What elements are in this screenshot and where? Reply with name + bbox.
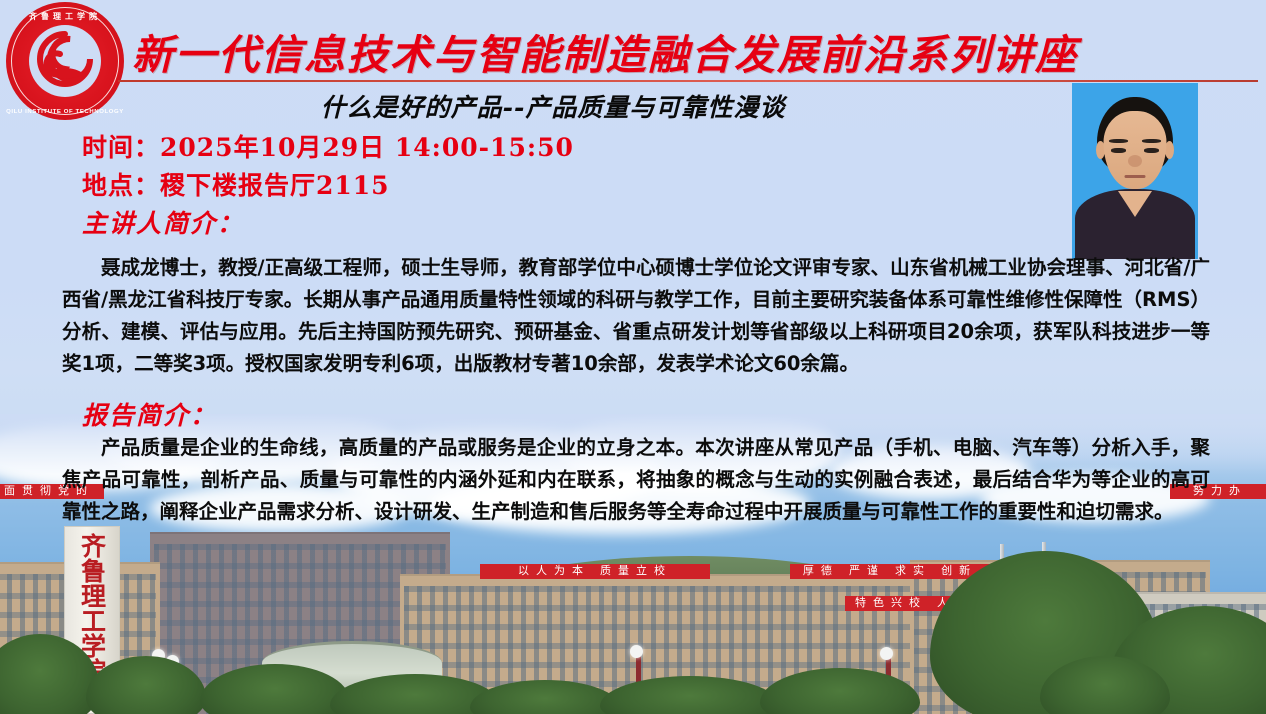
title-divider (118, 80, 1258, 82)
portrait-eye (1111, 148, 1126, 153)
abstract-section-heading: 报告简介： (82, 396, 217, 432)
banner-slogan: 厚德 严谨 求实 创新 (790, 564, 990, 579)
lecture-poster: 面贯彻党的 以人为本 质量立校 厚德 严谨 求实 创新 特色兴校 人 努力办 齐… (0, 0, 1266, 714)
portrait-mouth (1125, 175, 1146, 178)
lamp-globe (630, 645, 643, 658)
speaker-section-heading: 主讲人简介： (82, 204, 244, 240)
logo-inner-disc (29, 25, 101, 97)
lecture-place: 地点：稷下楼报告厅2115 (82, 166, 390, 202)
logo-swirl-icon (34, 28, 96, 90)
logo-chinese-name: 齐鲁理工学院 (6, 11, 124, 22)
banner-slogan: 以人为本 质量立校 (480, 564, 710, 579)
abstract-section-body: 产品质量是企业的生命线，高质量的产品或服务是企业的立身之本。本次讲座从常见产品（… (62, 432, 1210, 528)
speaker-photo: 聂成龙博士 证件照 (1072, 83, 1198, 259)
portrait-brow (1142, 139, 1161, 143)
portrait-eye (1144, 148, 1159, 153)
portrait-nose (1128, 155, 1142, 167)
poster-sub-title: 什么是好的产品--产品质量与可靠性漫谈 (0, 88, 1106, 124)
speaker-section-body: 聂成龙博士，教授/正高级工程师，硕士生导师，教育部学位中心硕博士学位论文评审专家… (62, 252, 1210, 380)
lecture-time: 时间：2025年10月29日 14:00-15:50 (82, 128, 574, 164)
portrait-brow (1109, 139, 1128, 143)
poster-main-title: 新一代信息技术与智能制造融合发展前沿系列讲座 (132, 21, 1122, 81)
lamp-globe (880, 647, 893, 660)
